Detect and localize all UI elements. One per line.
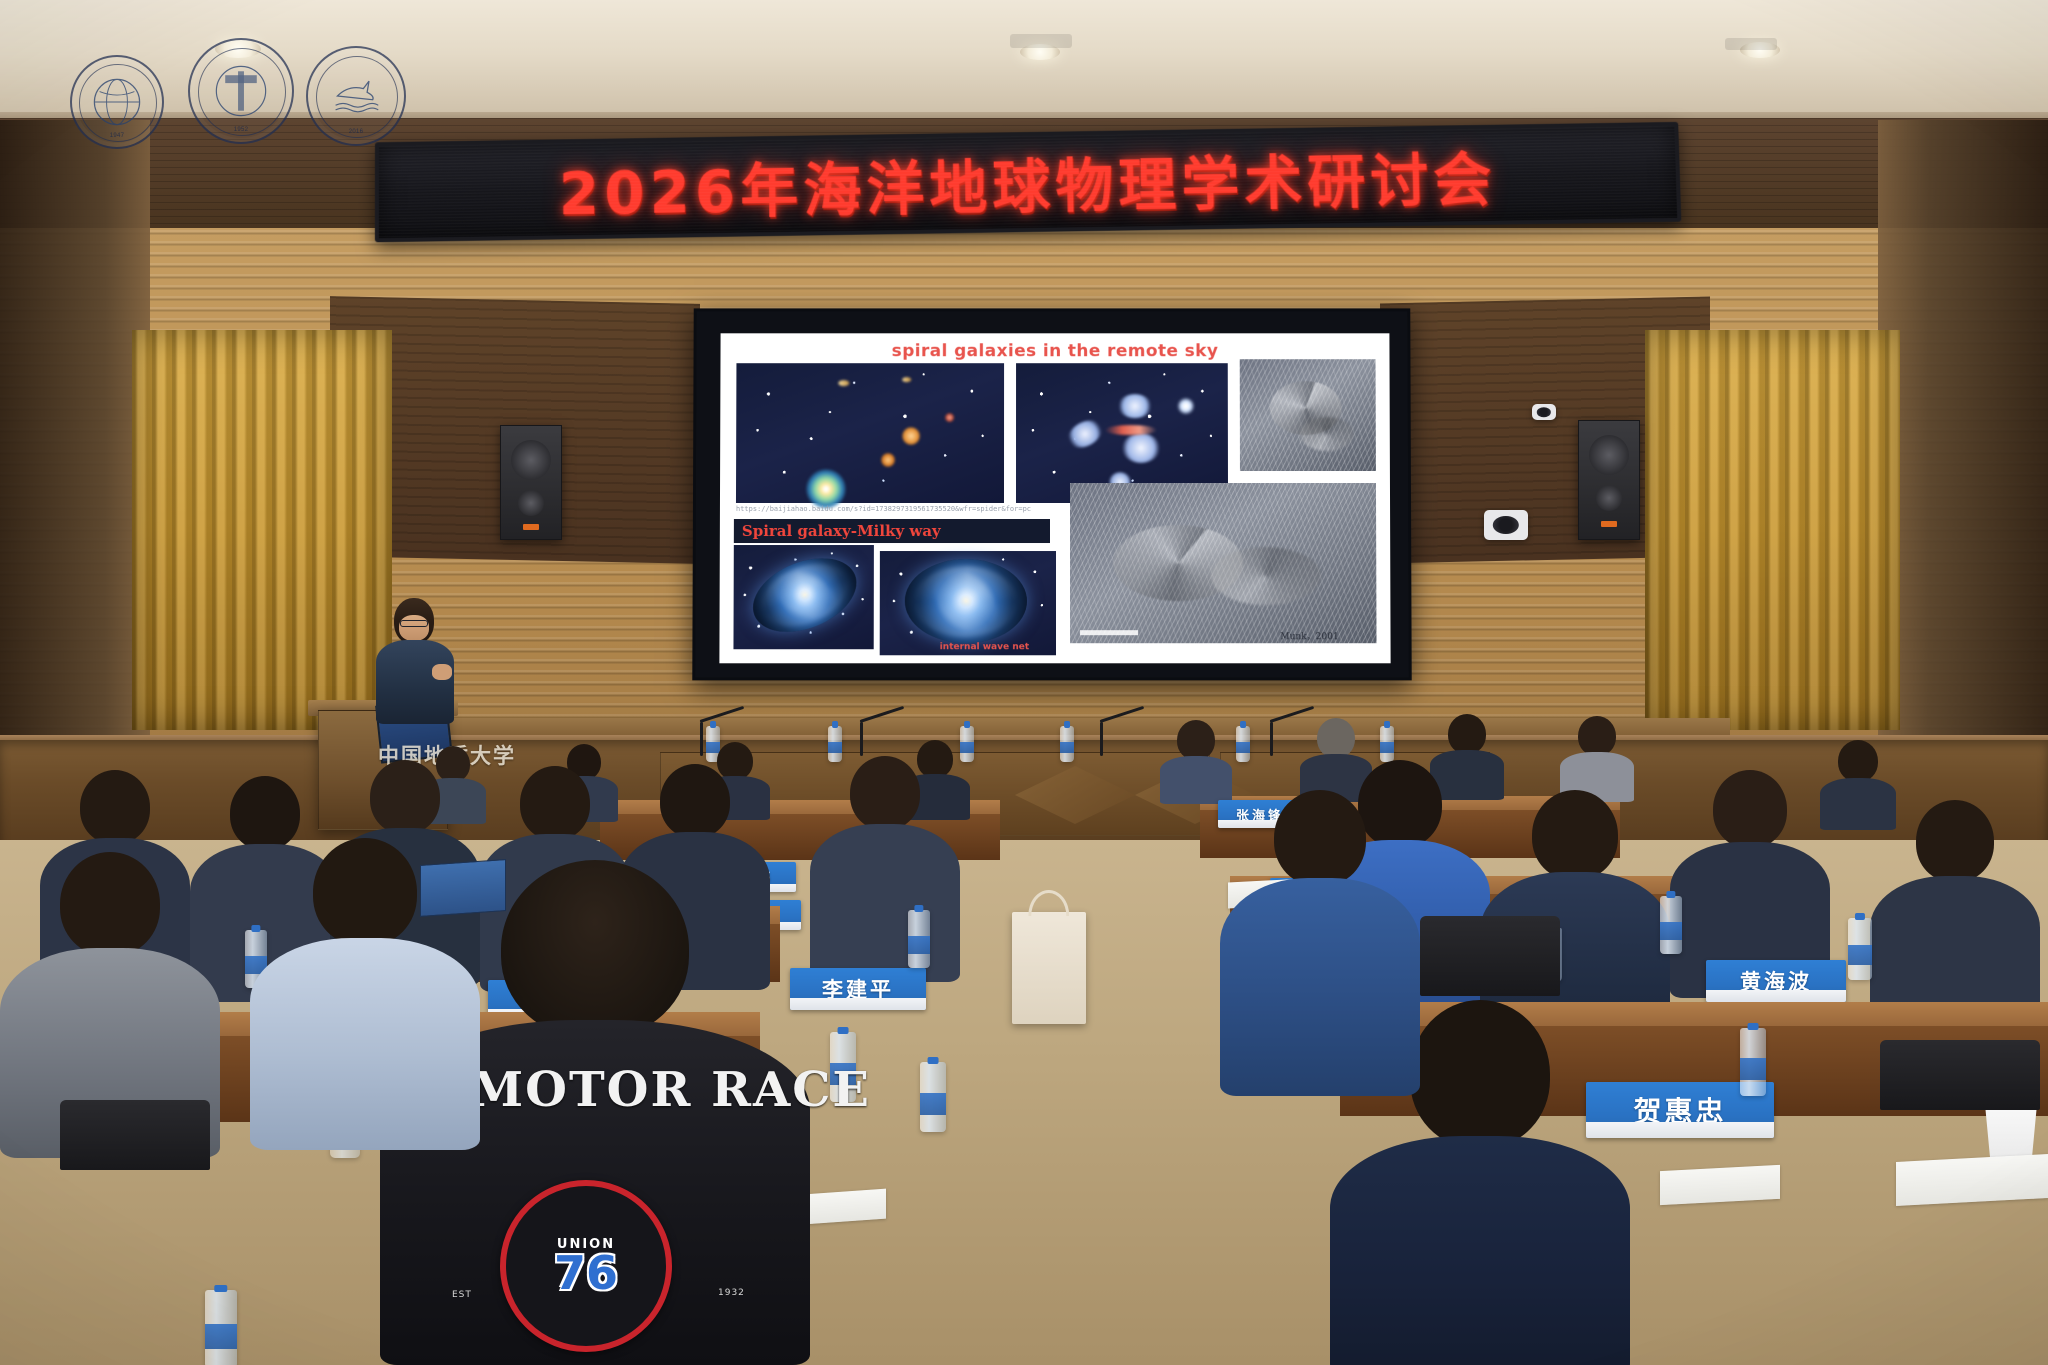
hammer-icon: [211, 61, 270, 120]
tote-bag: [1012, 912, 1086, 1024]
speaker-badge: [1601, 521, 1617, 527]
galaxy-blob: [881, 453, 895, 467]
union-76-badge: UNION 76: [500, 1180, 672, 1352]
galaxy-blob: [945, 413, 954, 422]
ceiling-camera-small: [1532, 404, 1556, 420]
attendee-body: [810, 824, 960, 982]
water-bottle: [1740, 1028, 1766, 1096]
andromeda-galaxy-image: [733, 545, 873, 649]
bottle-label: [1060, 742, 1074, 754]
speaker-badge: [523, 524, 539, 530]
galaxy-blob: [902, 377, 911, 382]
led-banner: 2026年海洋地球物理学术研讨会: [375, 122, 1681, 242]
bottle-cap: [1384, 721, 1390, 728]
jacket-motor-race-text: MOTOR RACE: [470, 1062, 790, 1118]
attendee-head: [370, 760, 440, 834]
projection-screen: spiral galaxies in the remote sky: [692, 308, 1411, 680]
attendee-head: [1177, 720, 1215, 760]
camera-lens: [1537, 407, 1551, 417]
jacket-tag-right: 1932: [718, 1288, 745, 1298]
galaxy-blob: [1118, 394, 1152, 418]
jacket-tag-left: EST: [452, 1290, 472, 1300]
ship-waves-icon: [328, 68, 384, 124]
speaker-cone: [1589, 435, 1629, 475]
wall-right-shadow: [1878, 120, 2048, 800]
bottle-cap: [832, 721, 838, 728]
attendee-head: [1532, 790, 1618, 880]
bottle-cap: [710, 721, 716, 728]
bright-star-flare: [1177, 397, 1195, 415]
attendee-head: [1317, 718, 1355, 758]
cug-ocean-college-logo: 2016: [306, 46, 406, 146]
water-bottle: [1380, 726, 1394, 762]
bottle-label: [908, 936, 930, 955]
table-microphone: [860, 722, 863, 756]
bottle-cap: [838, 1027, 849, 1034]
bottle-label: [1236, 742, 1250, 754]
bottle-cap: [1855, 913, 1865, 920]
chinese-geophysical-society-logo: 1947: [70, 55, 164, 149]
sonar-swirl-upper-image: [1240, 359, 1376, 471]
milky-way-disk: [904, 559, 1026, 643]
bottle-label: [828, 742, 842, 754]
bottle-cap: [964, 721, 970, 728]
chair[interactable]: [1880, 1040, 2040, 1110]
stage-curtain-left: [132, 330, 392, 730]
attendee-head: [80, 770, 150, 844]
water-bottle: [920, 1062, 946, 1132]
namecard-base: [790, 998, 926, 1010]
attendee-head: [1410, 1000, 1550, 1148]
slide-title-bottom: Spiral galaxy-Milky way: [734, 519, 1050, 543]
attendee-head: [1838, 740, 1878, 782]
speaker-body: [376, 640, 454, 724]
bottle-label: [1848, 945, 1872, 965]
banner-title: 2026年海洋地球物理学术研讨会: [559, 133, 1498, 232]
attendee-head: [850, 756, 920, 830]
bright-star-flare: [806, 469, 846, 509]
attendee-head: [1448, 714, 1486, 754]
water-bottle: [1236, 726, 1250, 762]
badge-number: 76: [554, 1252, 618, 1296]
bottle-label: [1740, 1058, 1766, 1080]
andromeda-disk: [742, 544, 867, 646]
water-bottle: [205, 1290, 237, 1365]
attendee-head: [501, 860, 689, 1038]
attendee-body: [1220, 878, 1420, 1096]
china-university-of-geosciences-logo: 1952: [188, 38, 294, 144]
namecard-base: [1706, 990, 1846, 1002]
attendee-head: [660, 764, 730, 838]
slide-citation: Munk，2001: [1280, 629, 1338, 642]
galaxy-blob: [838, 380, 849, 386]
bottle-label: [1660, 922, 1682, 941]
attendee: [1560, 716, 1634, 798]
speaker-cone: [511, 440, 551, 480]
table-microphone: [1100, 722, 1103, 756]
slide-title-top: spiral galaxies in the remote sky: [738, 341, 1371, 361]
speaker-cone: [518, 490, 544, 516]
presentation-slide: spiral galaxies in the remote sky: [719, 333, 1390, 663]
wall-speaker-left: [500, 425, 562, 540]
table-microphone: [1270, 722, 1273, 756]
namecard-huang-haibo: 黄海波: [1706, 960, 1846, 1002]
bottle-label: [920, 1093, 946, 1115]
bottle-cap: [214, 1285, 227, 1292]
ceiling-vent: [1010, 34, 1072, 48]
chair[interactable]: [60, 1100, 210, 1170]
document-paper: [1896, 1154, 2048, 1206]
bottle-cap: [914, 905, 923, 912]
camera-lens: [1493, 516, 1519, 534]
attendee-head: [1713, 770, 1787, 848]
galaxy-blob: [1063, 415, 1106, 453]
swirl-feature: [1300, 417, 1354, 451]
water-bottle: [1060, 726, 1074, 762]
wall-speaker-right: [1578, 420, 1640, 540]
speaker-hand: [432, 664, 452, 680]
logo-label: 2016: [308, 129, 404, 135]
attendee-head: [1916, 800, 1994, 882]
interaction-shock-front: [1105, 425, 1157, 435]
swirl-feature: [1211, 547, 1321, 605]
attendee-head: [520, 766, 590, 840]
bottle-label: [1380, 742, 1394, 754]
speaker-glasses: [400, 620, 428, 627]
water-bottle: [1660, 896, 1682, 954]
bottle-cap: [1748, 1023, 1759, 1030]
document-paper: [1660, 1165, 1780, 1205]
speaker-cone: [1596, 485, 1622, 511]
attendee: [1160, 720, 1232, 798]
water-bottle: [1848, 918, 1872, 980]
attendee-head: [313, 838, 417, 946]
security-camera: [1484, 510, 1528, 540]
attendee: [1220, 790, 1420, 1090]
galaxy-blob: [902, 427, 920, 445]
milky-way-spiral-image: internal wave net: [880, 551, 1056, 655]
attendee: [810, 756, 960, 976]
attendee-head: [60, 852, 160, 956]
wall-left-shadow: [0, 120, 150, 800]
bottle-cap: [1240, 721, 1246, 728]
attendee-head: [1578, 716, 1616, 756]
sonar-internal-wave-map-image: [1070, 483, 1377, 643]
bottle-cap: [1666, 891, 1675, 898]
attendee-body: [250, 938, 480, 1150]
logo-label: 1952: [190, 127, 292, 133]
logo-label: 1947: [72, 133, 162, 139]
conference-hall-scene: 1947 1952 2016 2026年海洋地球物理学术研讨会: [0, 0, 2048, 1365]
scale-bar: [1080, 630, 1138, 635]
attendee-head: [1274, 790, 1366, 886]
bottle-cap: [928, 1057, 939, 1064]
bottle-label: [205, 1324, 237, 1349]
water-bottle: [908, 910, 930, 968]
galaxy-blob: [1122, 433, 1160, 463]
chair[interactable]: [1420, 916, 1560, 996]
ceiling-vent: [1725, 38, 1777, 50]
speaker-presenter: [372, 598, 458, 723]
globe-icon: [91, 76, 143, 128]
attendee-body: [1330, 1136, 1630, 1365]
deep-field-galaxies-image: [736, 363, 1004, 503]
stage-curtain-right: [1645, 330, 1900, 730]
bottle-cap: [1064, 721, 1070, 728]
attendee: [250, 838, 480, 1138]
internal-wave-net-label: internal wave net: [940, 642, 1030, 652]
attendee: [1670, 770, 1830, 990]
namecard-li-jianping: 李建平: [790, 968, 926, 1010]
